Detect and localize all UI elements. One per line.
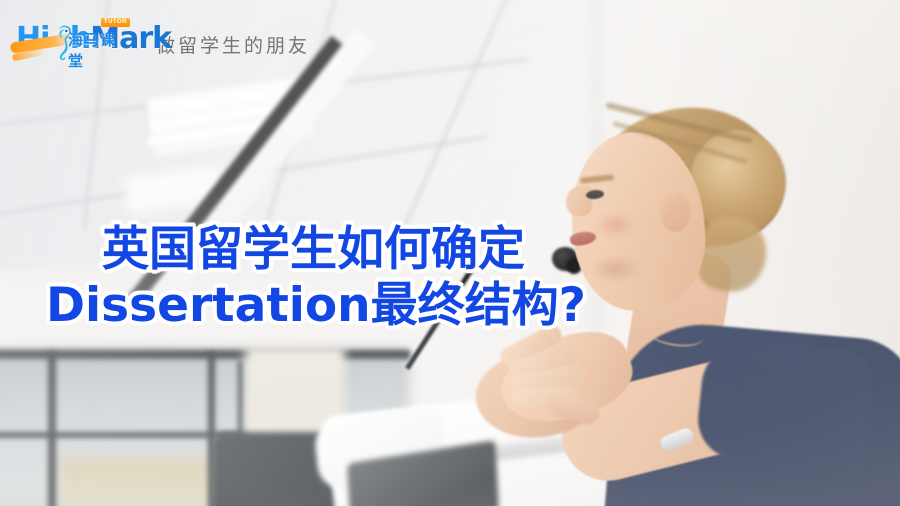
logo-chinese-name: 海马课堂	[68, 29, 128, 71]
headline-line-2: Dissertation最终结构?	[36, 278, 606, 334]
promo-banner: HighMark TUTOR 海马课堂 做留学生的朋友 英国留学生如何确定 Di…	[0, 0, 900, 506]
sleeve	[694, 335, 876, 472]
logo-badge: TUTOR	[101, 18, 130, 27]
brand-logo[interactable]: HighMark TUTOR 海马课堂 做留学生的朋友	[10, 18, 310, 70]
headline-block: 英国留学生如何确定 Dissertation最终结构?	[36, 222, 606, 334]
logo-mark[interactable]: HighMark TUTOR 海马课堂	[10, 21, 128, 67]
headline-line-1: 英国留学生如何确定	[36, 222, 606, 278]
brand-tagline: 做留学生的朋友	[156, 31, 310, 58]
ear	[660, 192, 690, 232]
nose	[566, 186, 592, 216]
